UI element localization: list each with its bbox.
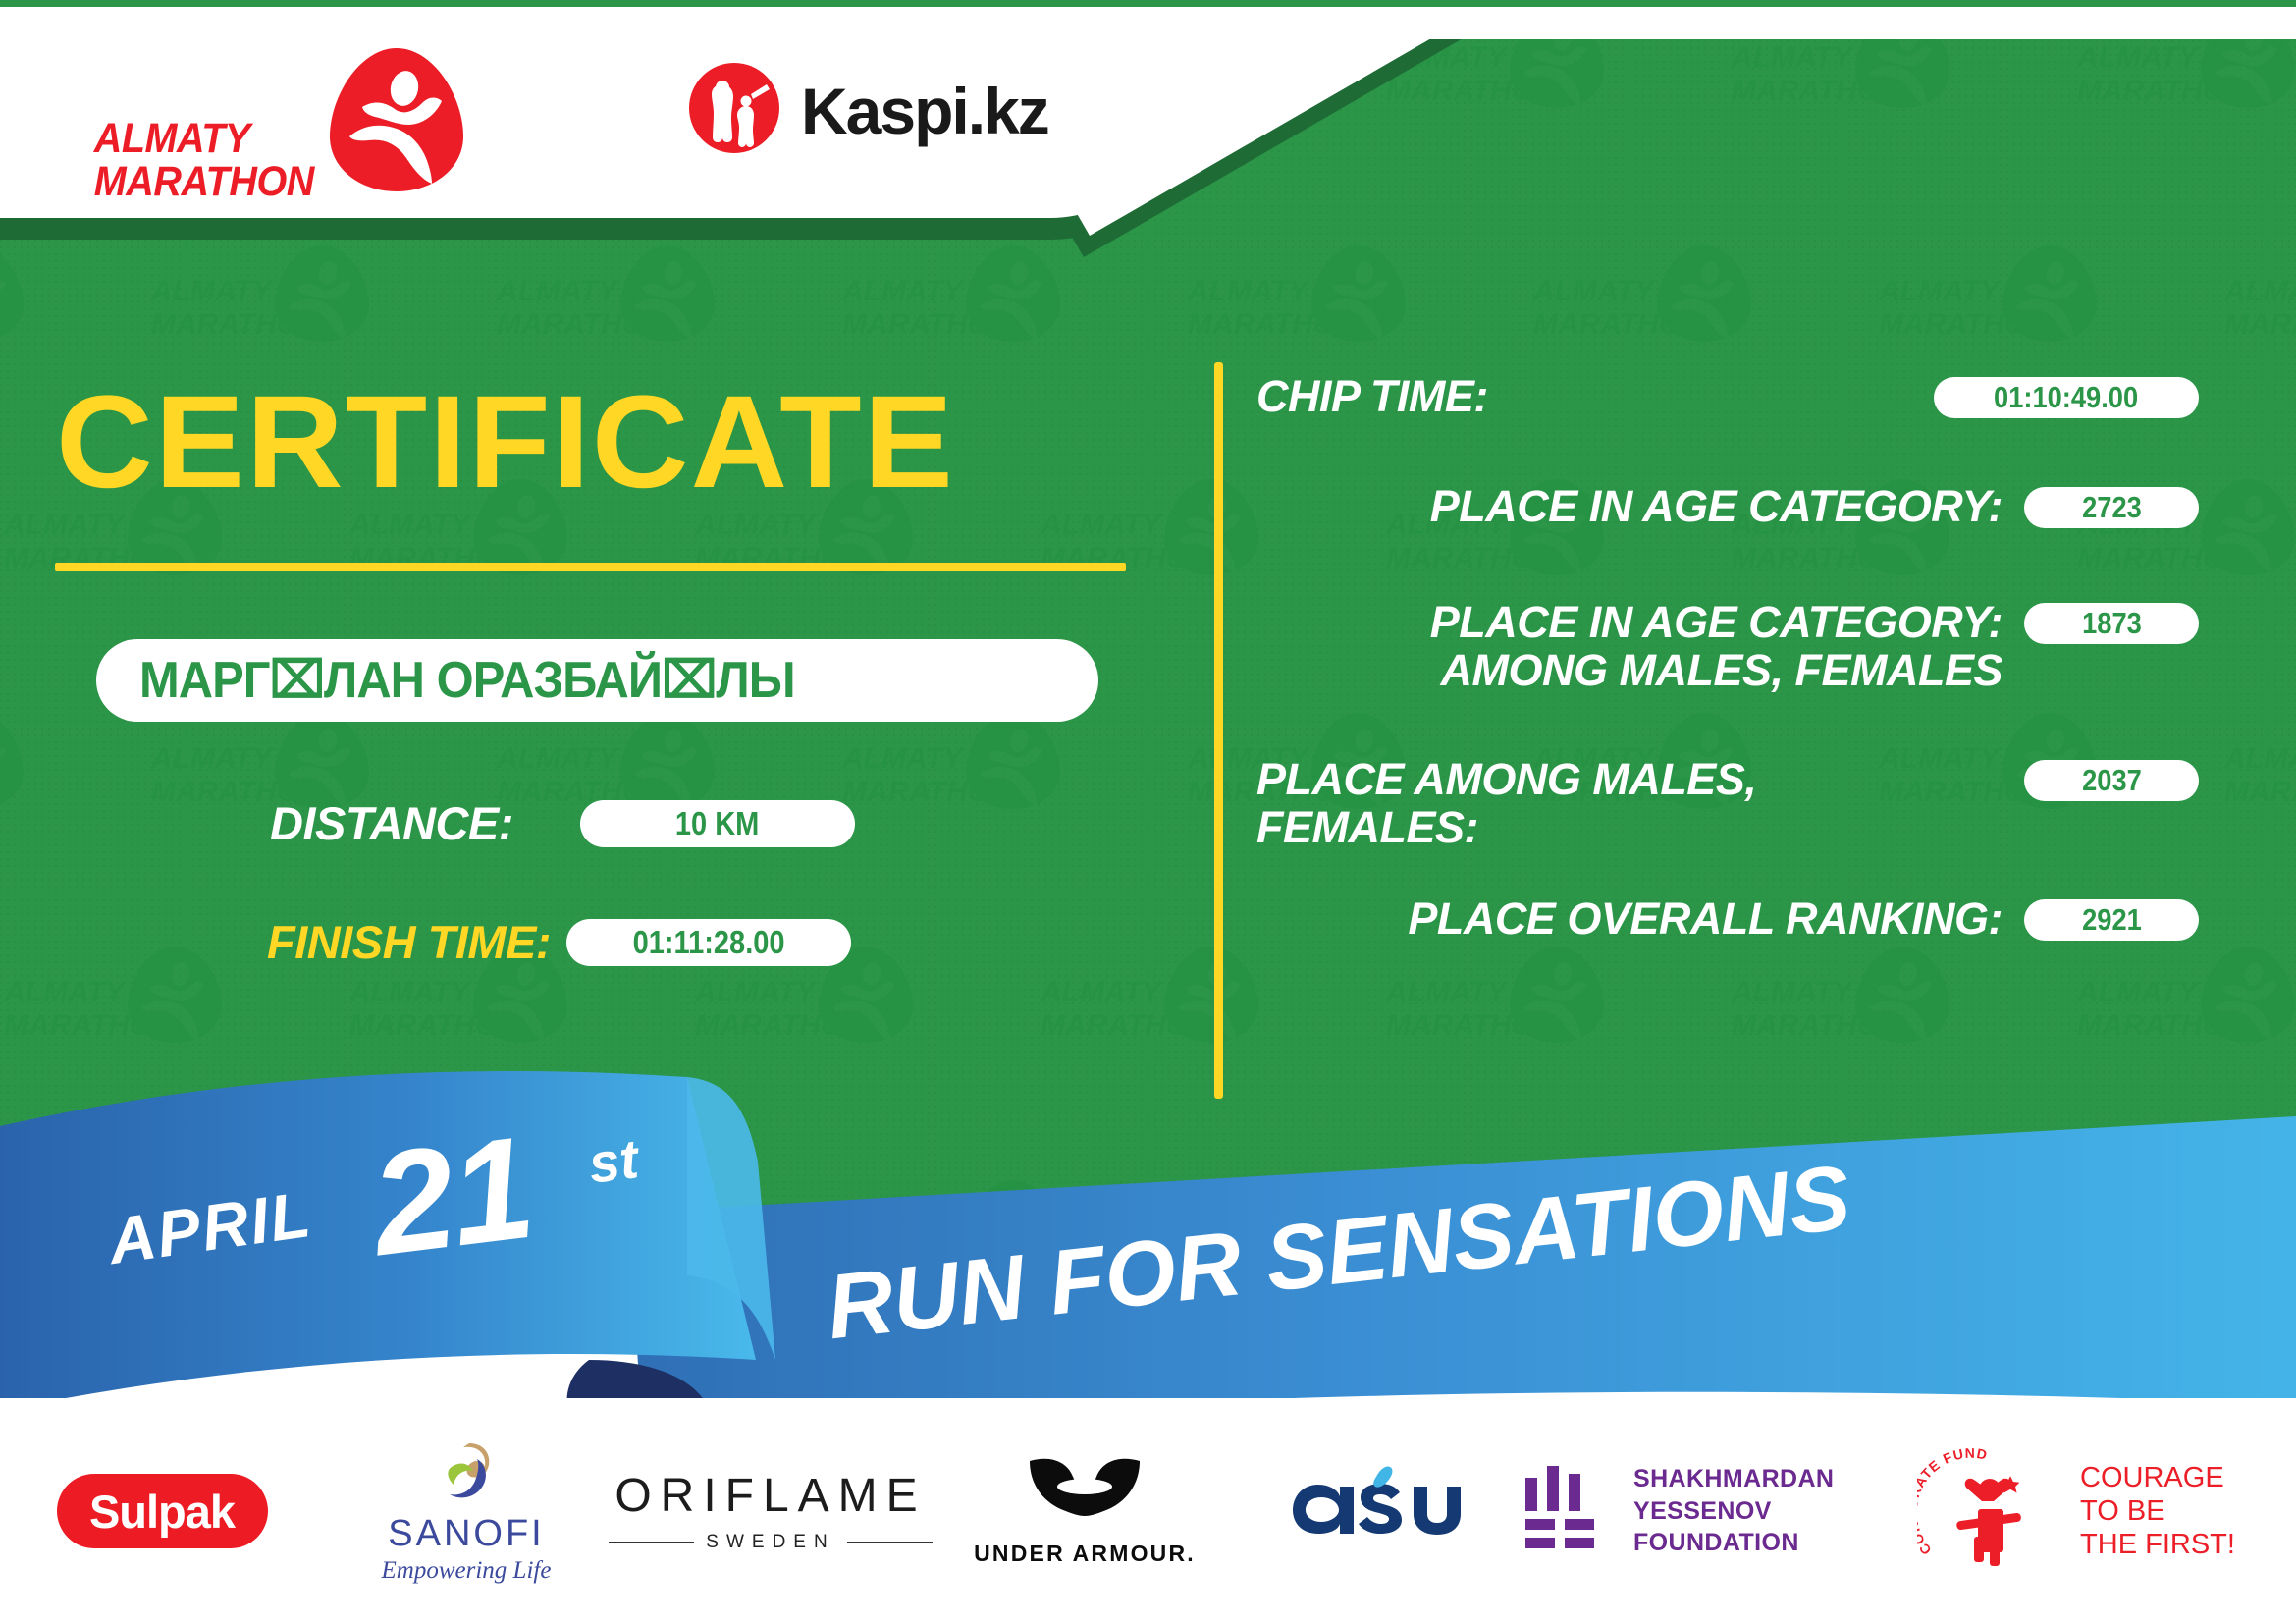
sponsor-courage-to-be-the-first: CORPORATE FUND COURAGETO BETHE FIRST!: [1914, 1446, 2238, 1577]
stat-row: PLACE IN AGE CATEGORY:AMONG MALES, FEMAL…: [1256, 599, 2199, 694]
svg-text:MARATHON: MARATHON: [1386, 542, 1557, 574]
sponsor-shakhmardan-yessenov-foundation: SHAKHMARDAN YESSENOVFOUNDATION: [1522, 1463, 1914, 1559]
courage-wordmark: COURAGETO BETHE FIRST!: [2080, 1461, 2235, 1562]
stat-label: PLACE IN AGE CATEGORY:AMONG MALES, FEMAL…: [1256, 599, 2024, 694]
svg-text:ALMATY: ALMATY: [2076, 41, 2201, 74]
svg-text:MARATHON: MARATHON: [1732, 75, 1902, 107]
ribbon-ordinal: st: [585, 1126, 641, 1196]
svg-text:ALMATY: ALMATY: [1731, 976, 1855, 1008]
asu-logo-icon: [1286, 1461, 1472, 1562]
svg-text:MARATHON: MARATHON: [2077, 1009, 2248, 1042]
svg-text:MARATHON: MARATHON: [1386, 75, 1557, 107]
shakhmardan-wordmark: SHAKHMARDAN YESSENOVFOUNDATION: [1633, 1463, 1914, 1559]
stat-row: PLACE OVERALL RANKING:2921: [1256, 895, 2199, 944]
stat-row: PLACE AMONG MALES,FEMALES:2037: [1256, 756, 2199, 851]
svg-text:ALMATY: ALMATY: [2076, 976, 2201, 1008]
svg-text:ALMATY: ALMATY: [2223, 742, 2296, 775]
watermark-tile: ALMATYMARATHON: [493, 240, 748, 367]
almaty-marathon-runner-drop-icon: [328, 46, 465, 198]
stat-label: CHIP TIME:: [1256, 373, 1934, 421]
page-title: CERTIFICATE: [56, 377, 955, 509]
watermark-tile: ALMATYMARATHON: [1037, 941, 1292, 1068]
svg-text:MARATHON: MARATHON: [2077, 75, 2248, 107]
sponsor-sulpak: Sulpak: [0, 1474, 324, 1548]
watermark-tile: ALMATYMARATHON: [1875, 1174, 2130, 1241]
watermark-tile: ALMATYMARATHON: [2073, 941, 2296, 1068]
svg-text:ALMATY: ALMATY: [841, 742, 966, 775]
stat-label: PLACE AMONG MALES,FEMALES:: [1256, 756, 2024, 851]
column-divider: [1214, 362, 1223, 1099]
svg-text:MARATHON: MARATHON: [1041, 1009, 1211, 1042]
svg-text:ALMATY: ALMATY: [150, 742, 275, 775]
sponsor-sanofi: SANOFI Empowering Life: [324, 1437, 609, 1585]
svg-text:ALMATY: ALMATY: [1040, 509, 1164, 541]
stat-value: 2723: [2082, 490, 2142, 525]
courage-runner-icon: CORPORATE FUND: [1917, 1446, 2064, 1577]
stat-value-pill: 2921: [2024, 899, 2199, 941]
svg-text:MARATHON: MARATHON: [2224, 776, 2296, 808]
watermark-tile: ALMATYMARATHON: [2220, 707, 2296, 835]
svg-text:ALMATY: ALMATY: [1878, 1210, 2002, 1241]
svg-text:MARATHON: MARATHON: [497, 308, 667, 341]
svg-text:MARATHON: MARATHON: [151, 308, 322, 341]
svg-text:MARATHON: MARATHON: [695, 1009, 866, 1042]
sponsor-under-armour: UNDER ARMOUR.: [933, 1455, 1237, 1567]
stat-row: PLACE IN AGE CATEGORY:2723: [1256, 483, 2199, 531]
watermark-tile: ALMATYMARATHON: [0, 1174, 57, 1241]
watermark-tile: ALMATYMARATHON: [1382, 941, 1637, 1068]
almaty-marathon-logo: ALMATY MARATHON: [84, 46, 465, 204]
watermark-tile: ALMATYMARATHON: [0, 240, 57, 367]
watermark-tile: ALMATYMARATHON: [1037, 473, 1292, 601]
svg-text:MARATHON: MARATHON: [1732, 542, 1902, 574]
stat-label: PLACE IN AGE CATEGORY:: [1256, 483, 2024, 531]
finish-time-label: FINISH TIME:: [267, 915, 551, 969]
stat-value: 2037: [2082, 763, 2142, 798]
watermark-tile: ALMATYMARATHON: [1875, 240, 2130, 367]
svg-text:ALMATY: ALMATY: [841, 1210, 966, 1241]
title-divider: [55, 563, 1126, 571]
svg-text:ALMATY: ALMATY: [1532, 275, 1657, 307]
watermark-tile: ALMATYMARATHON: [0, 941, 255, 1068]
stat-value: 1873: [2082, 606, 2142, 641]
watermark-tile: ALMATYMARATHON: [1728, 941, 1983, 1068]
under-armour-wordmark: UNDER ARMOUR.: [974, 1541, 1196, 1567]
svg-text:MARATHON: MARATHON: [1188, 308, 1359, 341]
stat-value-pill: 2723: [2024, 487, 2199, 528]
watermark-tile: ALMATYMARATHON: [2220, 240, 2296, 367]
almaty-marathon-wordmark: ALMATY MARATHON: [94, 118, 314, 204]
kaspi-logo: Kaspi.kz: [687, 61, 1048, 160]
sanofi-mark-icon: [430, 1437, 503, 1515]
watermark-tile: ALMATYMARATHON: [1529, 240, 1785, 367]
svg-text:MARATHON: MARATHON: [1732, 1009, 1902, 1042]
svg-text:MARATHON: MARATHON: [349, 1009, 520, 1042]
svg-text:MARATHON: MARATHON: [1386, 1009, 1557, 1042]
distance-value: 10 KM: [675, 805, 760, 842]
stat-value-pill: 2037: [2024, 760, 2199, 801]
distance-row: DISTANCE: 10 KM: [270, 796, 855, 850]
stat-value-pill: 01:10:49.00: [1934, 377, 2199, 418]
svg-text:ALMATY: ALMATY: [694, 976, 819, 1008]
svg-text:ALMATY: ALMATY: [1731, 41, 1855, 74]
stat-label: PLACE OVERALL RANKING:: [1256, 895, 2024, 944]
sponsor-bar: Sulpak SANOFI Empowering Life ORIFLAME S…: [0, 1398, 2296, 1624]
sanofi-wordmark: SANOFI: [388, 1515, 544, 1552]
distance-pill: 10 KM: [580, 800, 855, 847]
watermark-tile: ALMATYMARATHON: [838, 240, 1094, 367]
svg-text:ALMATY: ALMATY: [2223, 1210, 2296, 1241]
athlete-name-field: МАРГ⌧ЛАН ОРАЗБАЙ⌧ЛЫ: [96, 639, 1098, 722]
distance-label: DISTANCE:: [270, 796, 513, 850]
svg-text:MARATHON: MARATHON: [4, 1009, 175, 1042]
stat-row: CHIP TIME:01:10:49.00: [1256, 373, 2199, 421]
svg-text:ALMATY: ALMATY: [150, 275, 275, 307]
stat-value: 01:10:49.00: [1994, 380, 2138, 415]
svg-text:MARATHON: MARATHON: [1533, 308, 1704, 341]
svg-text:ALMATY: ALMATY: [496, 742, 620, 775]
watermark-tile: ALMATYMARATHON: [2220, 1174, 2296, 1241]
svg-text:ALMATY: ALMATY: [3, 976, 128, 1008]
oriflame-wordmark: ORIFLAME: [614, 1469, 926, 1523]
top-green-strip: [0, 0, 2296, 7]
oriflame-subline: SWEDEN: [609, 1532, 933, 1553]
svg-text:ALMATY: ALMATY: [1187, 275, 1311, 307]
svg-text:ALMATY: ALMATY: [348, 976, 473, 1008]
svg-text:ALMATY: ALMATY: [841, 275, 966, 307]
stat-value-pill: 1873: [2024, 603, 2199, 644]
svg-text:ALMATY: ALMATY: [1385, 976, 1510, 1008]
svg-text:ALMATY: ALMATY: [2223, 275, 2296, 307]
watermark-tile: ALMATYMARATHON: [147, 240, 402, 367]
svg-text:ALMATY: ALMATY: [496, 275, 620, 307]
oriflame-country: SWEDEN: [706, 1532, 834, 1553]
almaty-marathon-line2: MARATHON: [94, 161, 314, 204]
svg-text:ALMATY: ALMATY: [1878, 275, 2002, 307]
svg-text:MARATHON: MARATHON: [1879, 308, 2050, 341]
oriflame-rule-right: [847, 1542, 933, 1543]
svg-text:MARATHON: MARATHON: [842, 776, 1013, 808]
finish-time-row: FINISH TIME: 01:11:28.00: [267, 915, 851, 969]
finish-time-value: 01:11:28.00: [633, 924, 785, 961]
finish-time-pill: 01:11:28.00: [566, 919, 851, 966]
watermark-tile: ALMATYMARATHON: [1184, 240, 1439, 367]
almaty-marathon-line1: ALMATY: [94, 118, 250, 161]
watermark-tile: ALMATYMARATHON: [838, 707, 1094, 835]
kaspi-wordmark: Kaspi.kz: [801, 74, 1048, 148]
sulpak-logo: Sulpak: [57, 1474, 268, 1548]
svg-text:MARATHON: MARATHON: [2224, 308, 2296, 341]
shakhmardan-bars-icon: [1522, 1464, 1606, 1559]
under-armour-logo-icon: [1022, 1455, 1148, 1531]
svg-text:MARATHON: MARATHON: [2077, 542, 2248, 574]
svg-text:ALMATY: ALMATY: [1040, 976, 1164, 1008]
oriflame-rule-left: [609, 1542, 694, 1543]
stat-value: 2921: [2082, 902, 2142, 938]
athlete-name-value: МАРГ⌧ЛАН ОРАЗБАЙ⌧ЛЫ: [139, 651, 795, 710]
sanofi-tagline: Empowering Life: [382, 1557, 552, 1585]
certificate-canvas: ALMATYMARATHONALMATYMARATHONALMATYMARATH…: [0, 0, 2296, 1624]
ribbon-day: 21: [363, 1105, 540, 1289]
sponsor-asu: [1237, 1461, 1522, 1562]
svg-text:MARATHON: MARATHON: [842, 308, 1013, 341]
kaspi-people-circle-icon: [687, 61, 781, 160]
watermark-tile: ALMATYMARATHON: [0, 707, 57, 835]
sponsor-oriflame: ORIFLAME SWEDEN: [609, 1469, 933, 1553]
